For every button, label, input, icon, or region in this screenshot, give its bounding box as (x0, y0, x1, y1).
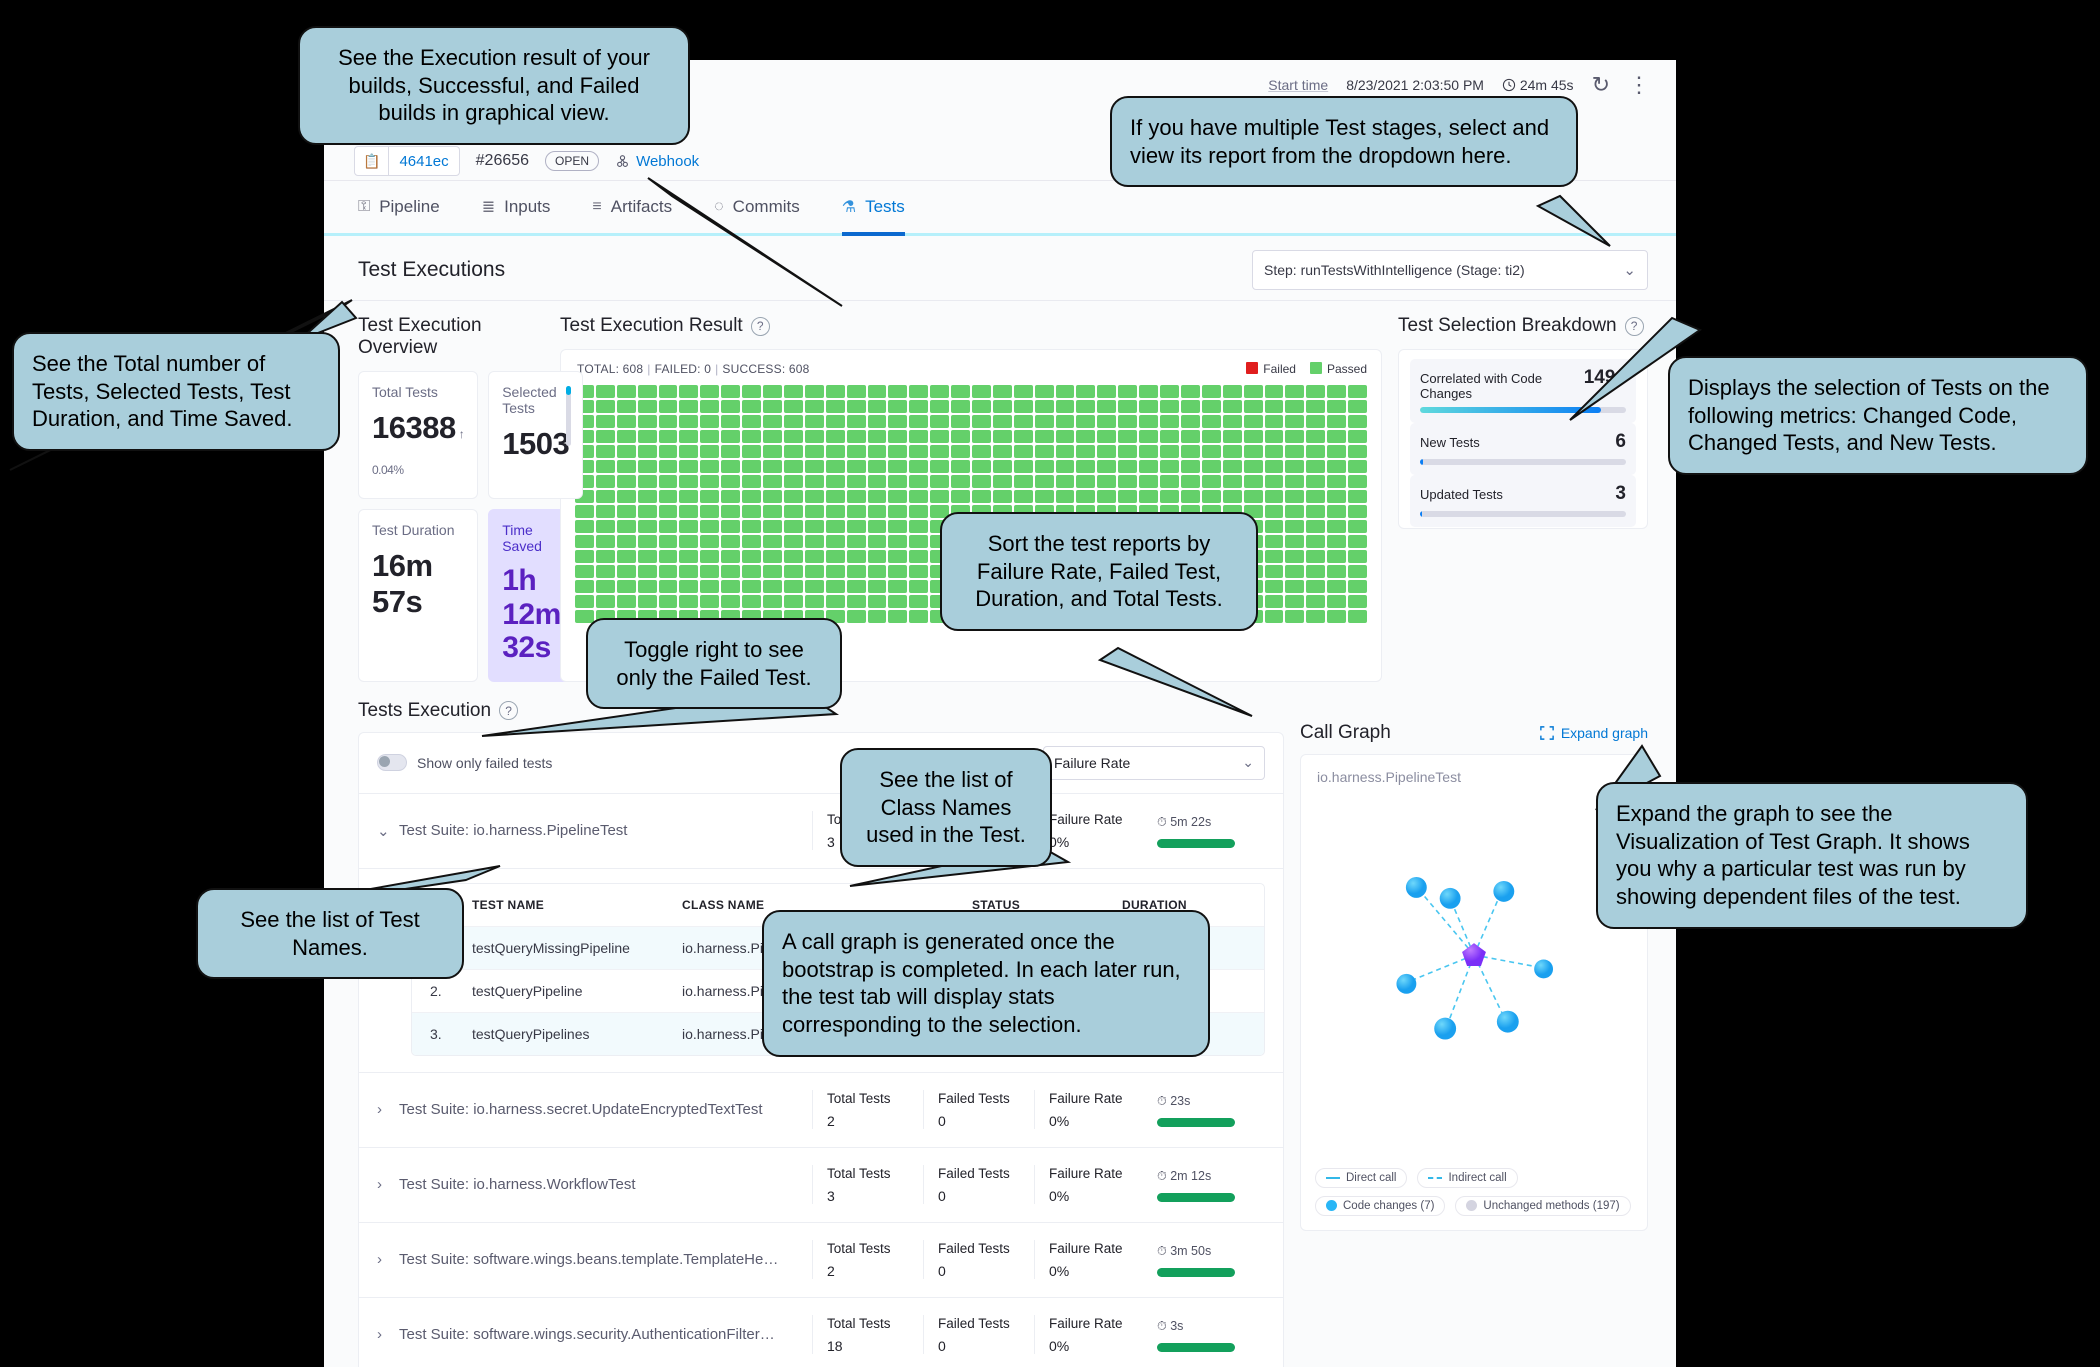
callout-overview-totals-text: See the Total number of Tests, Selected … (32, 351, 292, 431)
callout-sort-text: Sort the test reports by Failure Rate, F… (975, 531, 1222, 611)
callout-selection-metrics-text: Displays the selection of Tests on the f… (1688, 375, 2050, 455)
callout-expand-graph-text: Expand the graph to see the Visualizatio… (1616, 801, 1970, 909)
callout-test-names-text: See the list of Test Names. (240, 907, 419, 960)
callout-toggle-failed-text: Toggle right to see only the Failed Test… (616, 637, 811, 690)
callout-sort: Sort the test reports by Failure Rate, F… (940, 512, 1258, 631)
callout-class-names-text: See the list of Class Names used in the … (866, 767, 1026, 847)
callout-call-graph-info-text: A call graph is generated once the boots… (782, 929, 1181, 1037)
callout-test-names: See the list of Test Names. (196, 888, 464, 979)
callout-toggle-failed: Toggle right to see only the Failed Test… (586, 618, 842, 709)
callout-call-graph-info: A call graph is generated once the boots… (762, 910, 1210, 1057)
callout-test-stages-text: If you have multiple Test stages, select… (1130, 115, 1549, 168)
callout-expand-graph: Expand the graph to see the Visualizatio… (1596, 782, 2028, 929)
callout-execution-result: See the Execution result of your builds,… (298, 26, 690, 145)
callout-tails (0, 0, 2100, 1367)
callout-class-names: See the list of Class Names used in the … (840, 748, 1052, 867)
callout-test-stages: If you have multiple Test stages, select… (1110, 96, 1578, 187)
callout-overview-totals: See the Total number of Tests, Selected … (12, 332, 340, 451)
callout-selection-metrics: Displays the selection of Tests on the f… (1668, 356, 2088, 475)
callout-execution-result-text: See the Execution result of your builds,… (338, 45, 650, 125)
